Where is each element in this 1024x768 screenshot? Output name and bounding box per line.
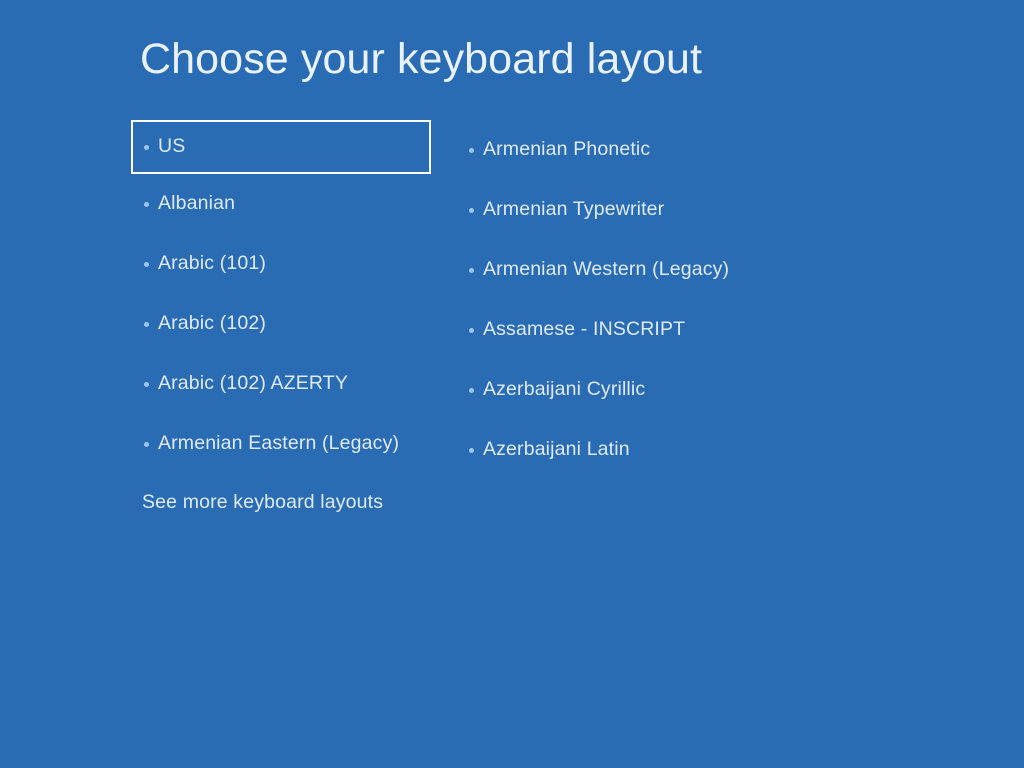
keyboard-layout-option-label: Azerbaijani Cyrillic — [483, 380, 645, 400]
keyboard-layout-option-label: Armenian Eastern (Legacy) — [158, 434, 399, 454]
keyboard-layout-option[interactable]: Arabic (102) — [131, 294, 431, 354]
see-more-keyboard-layouts-link[interactable]: See more keyboard layouts — [142, 493, 383, 513]
keyboard-layout-option[interactable]: Assamese - INSCRIPT — [455, 300, 785, 360]
keyboard-layout-option-label: Assamese - INSCRIPT — [483, 320, 685, 340]
keyboard-layout-option-label: Armenian Phonetic — [483, 140, 650, 160]
keyboard-layout-option-label: Arabic (102) — [158, 314, 266, 334]
keyboard-layout-option-label: Albanian — [158, 194, 235, 214]
keyboard-layout-option-label: Armenian Western (Legacy) — [483, 260, 729, 280]
keyboard-layout-list-right: Armenian PhoneticArmenian TypewriterArme… — [455, 120, 785, 480]
keyboard-layout-option[interactable]: Arabic (102) AZERTY — [131, 354, 431, 414]
page-title: Choose your keyboard layout — [140, 38, 702, 81]
keyboard-layout-option-label: Arabic (101) — [158, 254, 266, 274]
bullet-icon — [144, 322, 149, 327]
bullet-icon — [144, 202, 149, 207]
keyboard-layout-option[interactable]: Armenian Western (Legacy) — [455, 240, 785, 300]
keyboard-layout-option[interactable]: Azerbaijani Cyrillic — [455, 360, 785, 420]
keyboard-layout-option-label: US — [158, 137, 185, 157]
keyboard-layout-option[interactable]: Armenian Eastern (Legacy) — [131, 414, 431, 474]
keyboard-layout-option[interactable]: Armenian Typewriter — [455, 180, 785, 240]
bullet-icon — [469, 328, 474, 333]
keyboard-layout-option[interactable]: Azerbaijani Latin — [455, 420, 785, 480]
keyboard-layout-screen: Choose your keyboard layout USAlbanianAr… — [0, 0, 1024, 768]
bullet-icon — [469, 268, 474, 273]
bullet-icon — [469, 448, 474, 453]
keyboard-layout-option-label: Arabic (102) AZERTY — [158, 374, 348, 394]
bullet-icon — [144, 262, 149, 267]
bullet-icon — [144, 145, 149, 150]
bullet-icon — [144, 442, 149, 447]
keyboard-layout-list-left: USAlbanianArabic (101)Arabic (102)Arabic… — [131, 120, 431, 474]
bullet-icon — [469, 148, 474, 153]
keyboard-layout-option[interactable]: Arabic (101) — [131, 234, 431, 294]
bullet-icon — [144, 382, 149, 387]
keyboard-layout-option[interactable]: Armenian Phonetic — [455, 120, 785, 180]
bullet-icon — [469, 208, 474, 213]
bullet-icon — [469, 388, 474, 393]
keyboard-layout-option[interactable]: Albanian — [131, 174, 431, 234]
keyboard-layout-option-label: Azerbaijani Latin — [483, 440, 630, 460]
keyboard-layout-option[interactable]: US — [131, 120, 431, 174]
keyboard-layout-option-label: Armenian Typewriter — [483, 200, 664, 220]
